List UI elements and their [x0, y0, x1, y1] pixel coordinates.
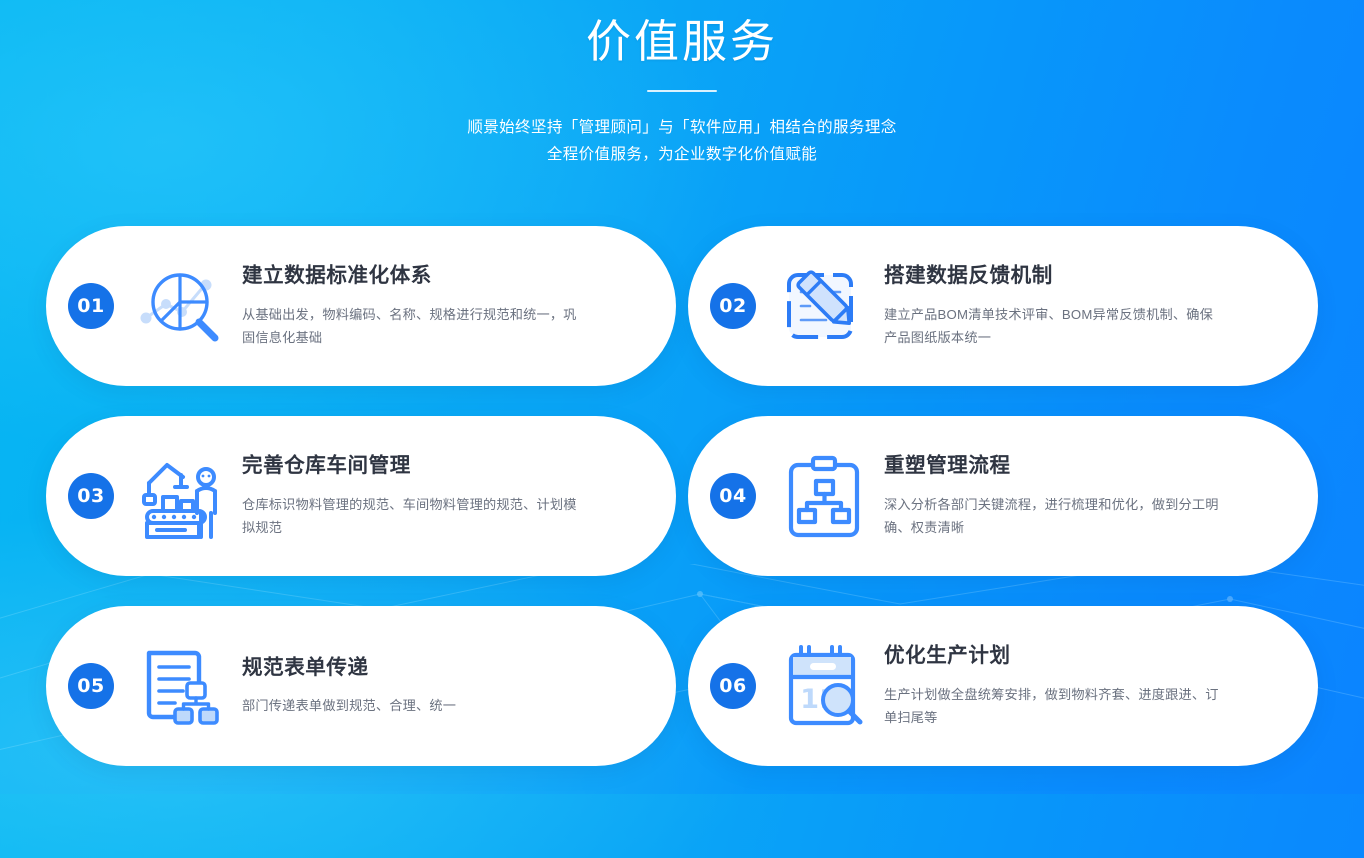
subtitle-line-2: 全程价值服务，为企业数字化价值赋能 [0, 141, 1364, 168]
factory-conveyor-worker-icon [130, 444, 234, 548]
page-root: 价值服务 顺景始终坚持「管理顾问」与「软件应用」相结合的服务理念 全程价值服务，… [0, 0, 1364, 794]
card-texts: 建立数据标准化体系 从基础出发，物料编码、名称、规格进行规范和统一，巩固信息化基… [242, 263, 676, 349]
card-number-badge: 05 [68, 663, 114, 709]
page-subtitle: 顺景始终坚持「管理顾问」与「软件应用」相结合的服务理念 全程价值服务，为企业数字… [0, 114, 1364, 168]
card-title: 建立数据标准化体系 [242, 263, 642, 290]
card-texts: 搭建数据反馈机制 建立产品BOM清单技术评审、BOM异常反馈机制、确保产品图纸版… [884, 263, 1318, 349]
page-title: 价值服务 [0, 14, 1364, 70]
pie-chart-magnifier-icon [130, 254, 234, 358]
card-texts: 完善仓库车间管理 仓库标识物料管理的规范、车间物料管理的规范、计划模拟规范 [242, 453, 676, 539]
card-title: 规范表单传递 [242, 655, 642, 682]
card-description: 深入分析各部门关键流程，进行梳理和优化，做到分工明确、权责清晰 [884, 493, 1220, 539]
service-card-grid: 01 [46, 226, 1318, 766]
service-card[interactable]: 06 11 优化生产计划 生产计划做全盘统 [688, 606, 1318, 766]
title-divider [647, 90, 717, 92]
card-number-badge: 04 [710, 473, 756, 519]
card-description: 仓库标识物料管理的规范、车间物料管理的规范、计划模拟规范 [242, 493, 582, 539]
card-number-badge: 03 [68, 473, 114, 519]
service-card[interactable]: 05 [46, 606, 676, 766]
card-description: 建立产品BOM清单技术评审、BOM异常反馈机制、确保产品图纸版本统一 [884, 303, 1220, 349]
card-description: 从基础出发，物料编码、名称、规格进行规范和统一，巩固信息化基础 [242, 303, 582, 349]
card-title: 完善仓库车间管理 [242, 453, 642, 480]
card-title: 重塑管理流程 [884, 453, 1290, 480]
calendar-search-icon: 11 [772, 634, 876, 738]
subtitle-line-1: 顺景始终坚持「管理顾问」与「软件应用」相结合的服务理念 [0, 114, 1364, 141]
card-texts: 规范表单传递 部门传递表单做到规范、合理、统一 [242, 655, 676, 718]
card-title: 优化生产计划 [884, 643, 1290, 670]
card-number-badge: 02 [710, 283, 756, 329]
pencil-note-icon [772, 254, 876, 358]
card-description: 生产计划做全盘统筹安排，做到物料齐套、进度跟进、订单扫尾等 [884, 683, 1220, 729]
document-flow-icon [130, 634, 234, 738]
service-card[interactable]: 03 [46, 416, 676, 576]
service-card[interactable]: 02 [688, 226, 1318, 386]
service-card[interactable]: 04 重塑管理流程 深入分析各部门关键流程，进行梳理和优化，做到分工明确、权责清… [688, 416, 1318, 576]
card-texts: 重塑管理流程 深入分析各部门关键流程，进行梳理和优化，做到分工明确、权责清晰 [884, 453, 1318, 539]
page-header: 价值服务 顺景始终坚持「管理顾问」与「软件应用」相结合的服务理念 全程价值服务，… [0, 0, 1364, 168]
card-texts: 优化生产计划 生产计划做全盘统筹安排，做到物料齐套、进度跟进、订单扫尾等 [884, 643, 1318, 729]
card-number-badge: 01 [68, 283, 114, 329]
clipboard-org-chart-icon [772, 444, 876, 548]
card-number-badge: 06 [710, 663, 756, 709]
card-title: 搭建数据反馈机制 [884, 263, 1290, 290]
card-description: 部门传递表单做到规范、合理、统一 [242, 694, 582, 717]
service-card[interactable]: 01 [46, 226, 676, 386]
